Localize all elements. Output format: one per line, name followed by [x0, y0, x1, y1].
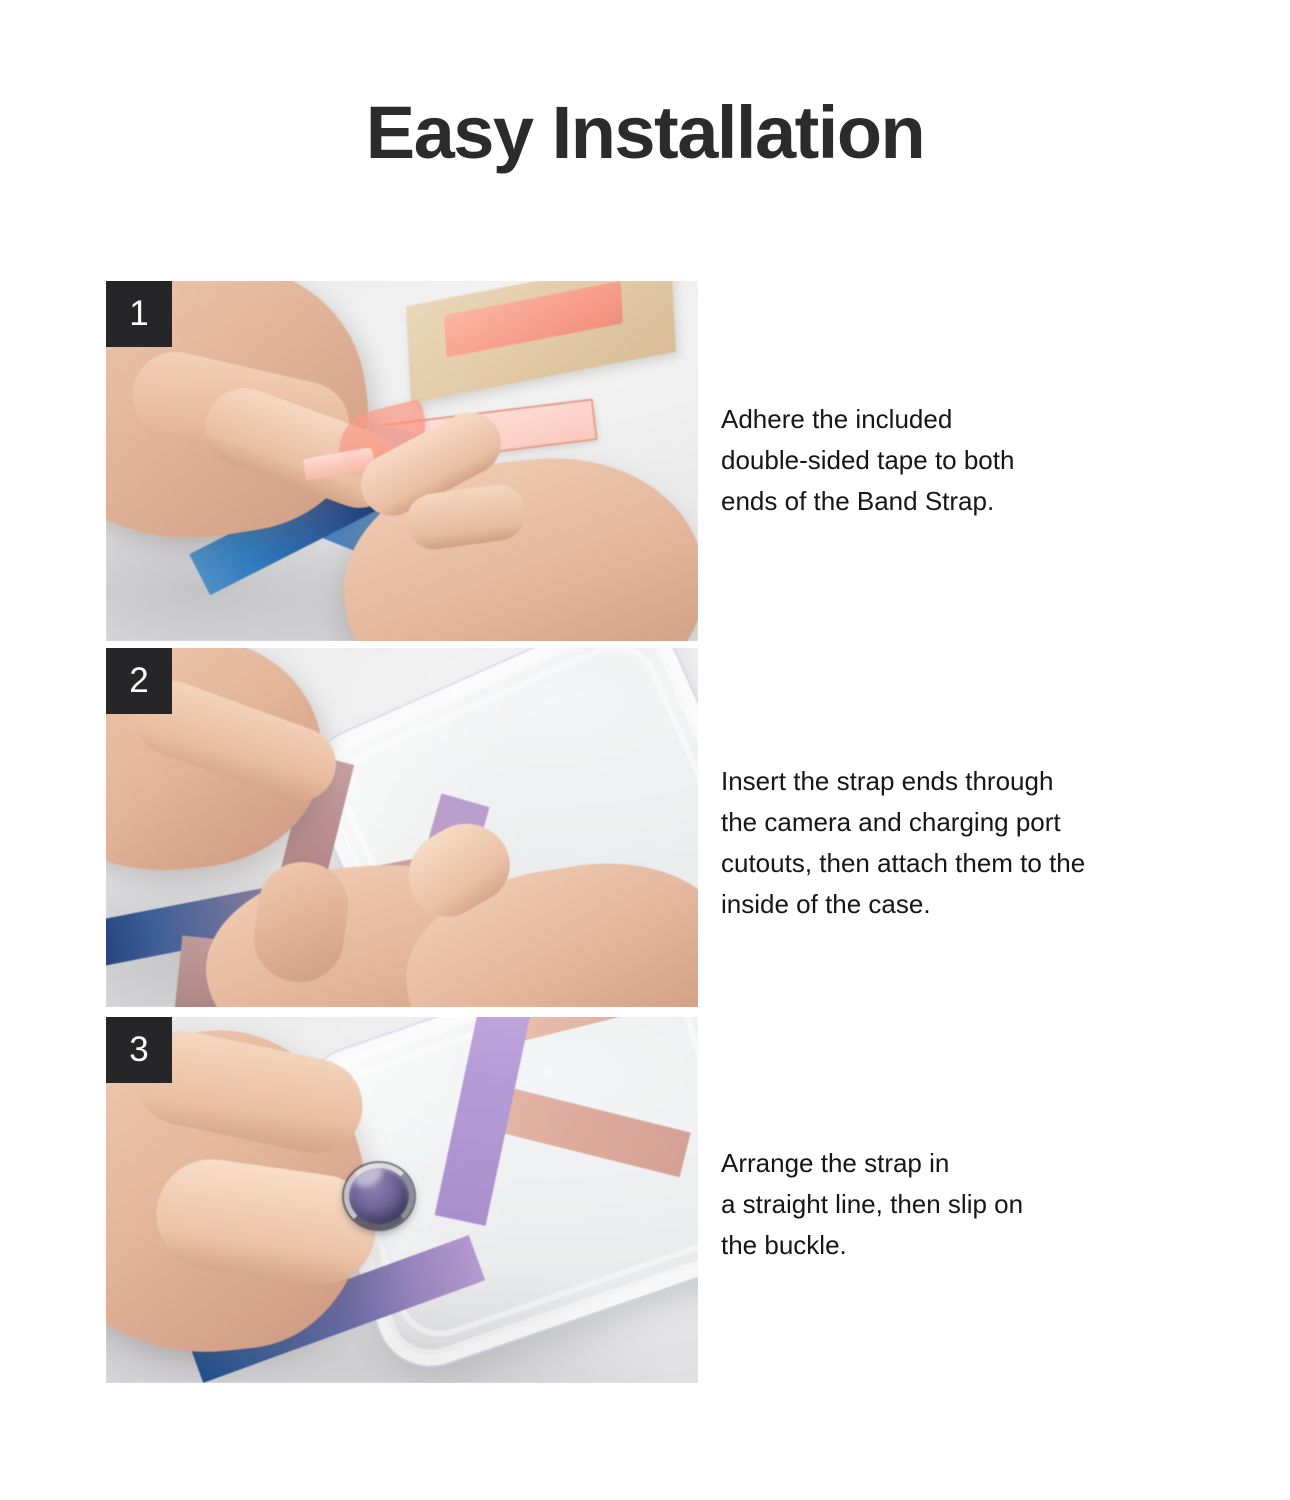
- installation-guide-page: Easy Installation RINGKE: [0, 0, 1290, 1500]
- installation-step-3: 3 Arrange the strap in a straight line, …: [106, 1017, 1226, 1383]
- step-2-caption: Insert the strap ends through the camera…: [721, 761, 1191, 925]
- step-1-photo: RINGKE 1: [106, 281, 698, 641]
- step-3-photo: 3: [106, 1017, 698, 1383]
- step-2-photo: 2: [106, 648, 698, 1007]
- page-title: Easy Installation: [0, 96, 1290, 170]
- step-number-badge-3: 3: [106, 1017, 172, 1083]
- step-1-scene: RINGKE: [106, 281, 698, 641]
- step-3-scene: [106, 1017, 698, 1383]
- step-number-badge-1: 1: [106, 281, 172, 347]
- installation-steps-list: RINGKE 1 Adhere the included dou: [106, 281, 1226, 1383]
- step-2-scene: [106, 648, 698, 1007]
- installation-step-2: 2 Insert the strap ends through the came…: [106, 648, 1226, 1017]
- step-number-badge-2: 2: [106, 648, 172, 714]
- step-3-caption: Arrange the strap in a straight line, th…: [721, 1143, 1191, 1266]
- installation-step-1: RINGKE 1 Adhere the included dou: [106, 281, 1226, 648]
- step-1-caption: Adhere the included double-sided tape to…: [721, 399, 1191, 522]
